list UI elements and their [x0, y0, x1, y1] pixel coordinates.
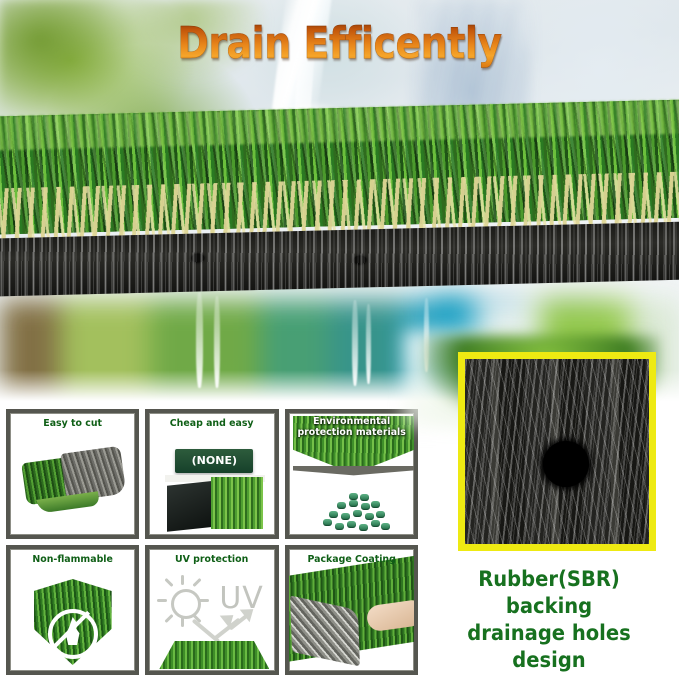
rubber-backing-panel [458, 352, 656, 551]
feature-label: Cheap and easy [153, 418, 271, 429]
feature-label: Easy to cut [14, 418, 132, 429]
feature-grid: Easy to cut Cheap and easy (NONE) Enviro… [6, 409, 418, 675]
turf-cross-section [0, 99, 679, 296]
feature-cell-cheap-and-easy[interactable]: Cheap and easy (NONE) [145, 409, 278, 539]
turf-corner-edge [293, 466, 415, 478]
pellets-icon [319, 493, 391, 531]
caption-line-2: drainage holes design [433, 620, 666, 674]
price-banner-icon: (NONE) [175, 449, 253, 473]
drainage-hole-icon [191, 253, 204, 262]
page-title: Drain Efficently [48, 18, 632, 69]
caption-line-1: Rubber(SBR) backing [433, 566, 666, 620]
feature-cell-easy-to-cut[interactable]: Easy to cut [6, 409, 139, 539]
no-flame-shield-icon [34, 579, 112, 665]
feature-label: Package Coating [292, 554, 410, 565]
prohibition-ring-icon [48, 609, 98, 659]
banner-text: (NONE) [175, 449, 253, 473]
rolled-turf-icon [20, 445, 119, 515]
turf-surface-icon [159, 641, 269, 669]
feature-cell-environmental[interactable]: Environmental protection materials [285, 409, 418, 539]
right-panel-caption: Rubber(SBR) backing drainage holes desig… [433, 566, 666, 674]
feature-cell-package-coating[interactable]: Package Coating [285, 545, 418, 675]
drainage-hole-icon [353, 255, 366, 264]
feature-label: Environmental protection materials [292, 416, 410, 438]
feature-label: UV protection [153, 554, 271, 565]
feature-label: Non-flammable [14, 554, 132, 565]
drainage-hole-icon [543, 441, 589, 487]
feature-cell-non-flammable[interactable]: Non-flammable [6, 545, 139, 675]
product-feature-image: Drain Efficently Easy to cut Cheap and e… [0, 0, 679, 679]
feature-cell-uv-protection[interactable]: UV protection UV [145, 545, 278, 675]
green-turf-sample [211, 477, 263, 529]
